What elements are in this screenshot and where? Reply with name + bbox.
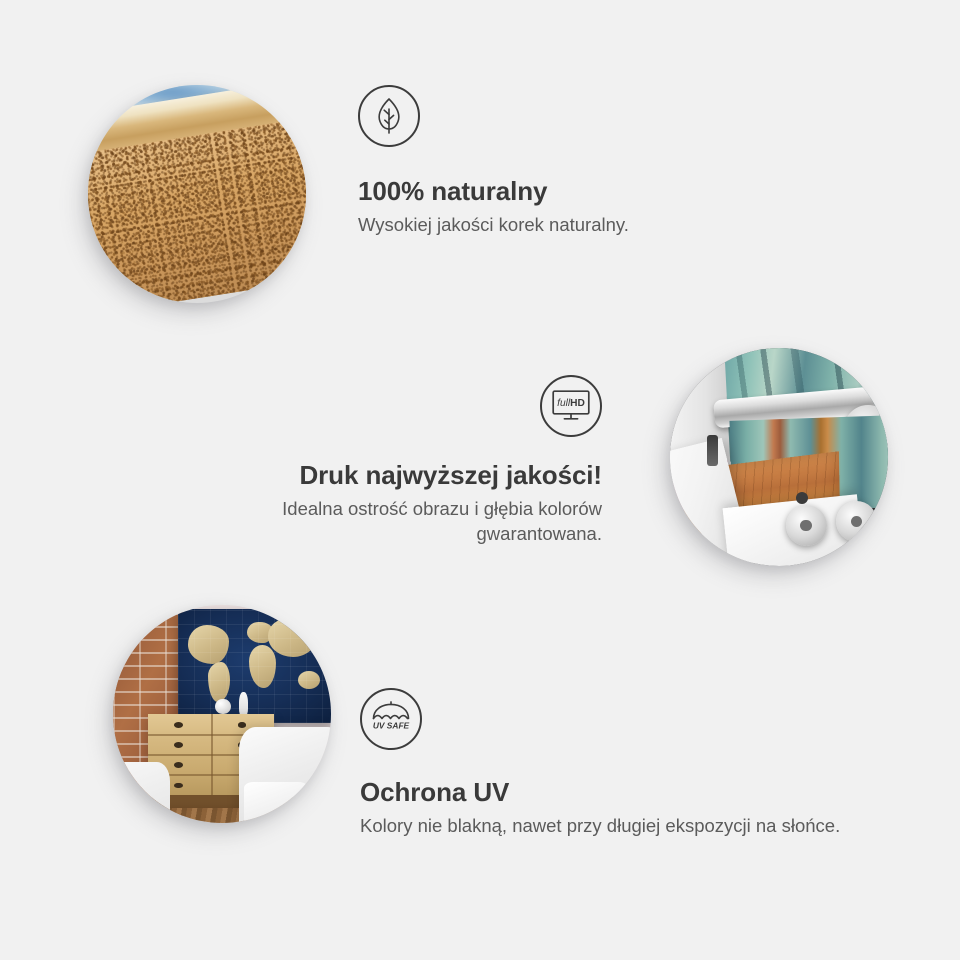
map-landmass-europe <box>247 622 272 644</box>
map-landmass-south-america <box>208 662 230 703</box>
white-armchair <box>113 762 170 823</box>
feature-description: Idealna ostrość obrazu i głębia kolorów … <box>186 497 602 547</box>
printer-wheel-left <box>786 505 827 546</box>
cork-board-photo <box>88 85 306 303</box>
dresser-center-divider <box>211 714 213 795</box>
map-landmass-australia <box>298 671 320 689</box>
svg-text:fullHD: fullHD <box>557 398 585 409</box>
feature-natural: 100% naturalny Wysokiej jakości korek na… <box>358 85 778 238</box>
cork-scene <box>88 85 306 303</box>
printer-wheel-right <box>836 501 877 542</box>
printer-lever <box>707 435 718 466</box>
leaf-icon <box>358 85 420 147</box>
drawer-knob <box>174 783 183 789</box>
drawer-knob <box>174 762 183 768</box>
feature-title: Druk najwyższej jakości! <box>186 461 602 491</box>
drawer-knob <box>174 742 183 748</box>
decor-globe <box>215 699 230 714</box>
white-sofa <box>239 727 331 823</box>
world-map-artwork <box>178 609 331 722</box>
drawer-knob <box>174 722 183 728</box>
feature-title: 100% naturalny <box>358 177 778 207</box>
uv-safe-umbrella-icon: UV SAFE <box>360 688 422 750</box>
printer-photo <box>670 348 888 566</box>
feature-description: Wysokiej jakości korek naturalny. <box>358 213 778 238</box>
room-scene <box>113 605 331 823</box>
svg-text:UV SAFE: UV SAFE <box>373 721 410 731</box>
drawer-knob <box>238 722 247 728</box>
printer-scene <box>670 348 888 566</box>
feature-showcase: 100% naturalny Wysokiej jakości korek na… <box>0 0 960 960</box>
map-landmass-asia <box>268 618 318 657</box>
fullhd-monitor-icon: fullHD <box>540 375 602 437</box>
feature-title: Ochrona UV <box>360 778 860 808</box>
feature-print-quality: fullHD Druk najwyższej jakości! Idealna … <box>186 375 602 547</box>
feature-description: Kolory nie blakną, nawet przy długiej ek… <box>360 814 860 839</box>
map-landmass-north-america <box>188 625 229 664</box>
decor-figurine <box>239 692 248 716</box>
map-landmass-africa <box>249 645 276 688</box>
interior-room-photo <box>113 605 331 823</box>
feature-uv-protection: UV SAFE Ochrona UV Kolory nie blakną, na… <box>360 688 860 839</box>
